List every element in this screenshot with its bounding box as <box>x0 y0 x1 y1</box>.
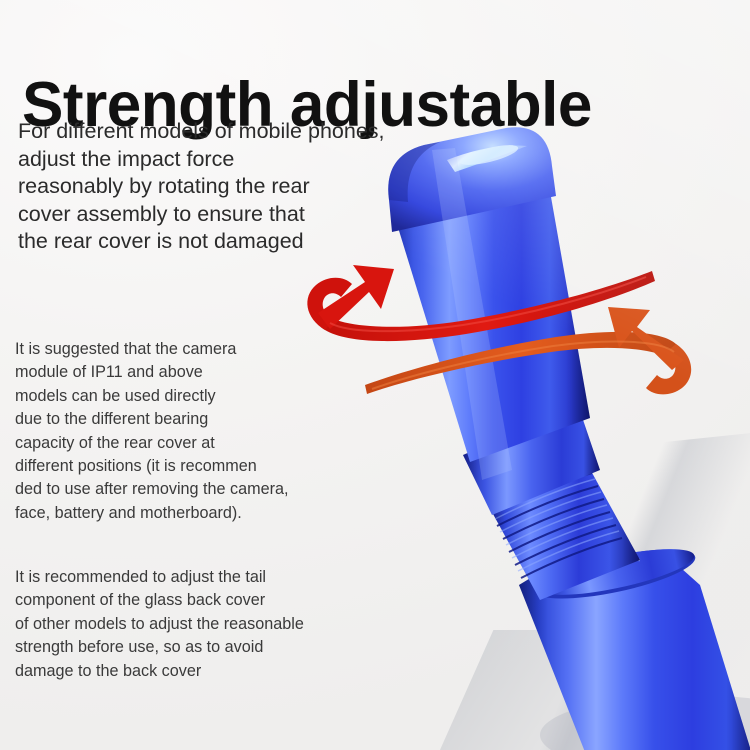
note-block-glass-back-cover: It is recommended to adjust the tail com… <box>15 566 365 683</box>
intro-line: adjust the impact force <box>18 146 448 174</box>
note-line: component of the glass back cover <box>15 589 365 612</box>
note-line: strength before use, so as to avoid <box>15 636 365 659</box>
intro-line: reasonably by rotating the rear <box>18 173 448 201</box>
intro-line: For different models of mobile phones, <box>18 118 448 146</box>
note-line: It is recommended to adjust the tail <box>15 566 365 589</box>
note-line: module of IP11 and above <box>15 361 365 384</box>
note-line: It is suggested that the camera <box>15 338 365 361</box>
note-line: damage to the back cover <box>15 660 365 683</box>
note-line: due to the different bearing <box>15 408 365 431</box>
note-line: capacity of the rear cover at <box>15 432 365 455</box>
note-line: models can be used directly <box>15 385 365 408</box>
intro-line: the rear cover is not damaged <box>18 228 448 256</box>
note-block-camera-module: It is suggested that the camera module o… <box>15 338 365 525</box>
note-line: different positions (it is recommen <box>15 455 365 478</box>
intro-line: cover assembly to ensure that <box>18 201 448 229</box>
note-line: of other models to adjust the reasonable <box>15 613 365 636</box>
note-line: ded to use after removing the camera, <box>15 478 365 501</box>
intro-paragraph: For different models of mobile phones, a… <box>18 118 448 256</box>
note-line: face, battery and motherboard). <box>15 502 365 525</box>
product-feature-image: Strength adjustable For different models… <box>0 0 750 750</box>
